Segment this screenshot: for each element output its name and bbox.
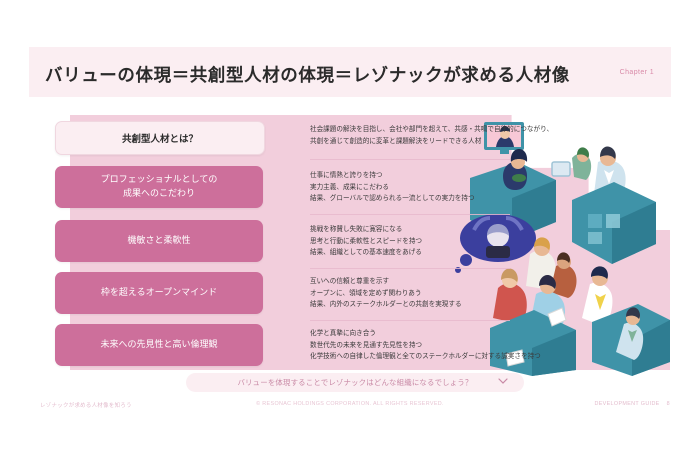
footer-right: DEVELOPMENT GUIDE 8 [594,401,670,407]
desc-line: 社会課題の解決を目指し、会社や部門を超えて、共感・共鳴で自律的につながり、 [310,124,553,136]
row-label-text: プロフェッショナルとしての 成果へのこだわり [101,173,218,201]
row-description-openmind: 互いへの信頼と尊重を示す オープンに、領域を定めず関わりあう 結果、内外のステー… [310,276,462,311]
desc-line: 結果、内外のステークホルダーとの共創を実現する [310,299,462,311]
row-description-definition: 社会課題の解決を目指し、会社や部門を超えて、共感・共鳴で自律的につながり、 共創… [310,124,553,147]
row-description-ethics: 化学と真摯に向き合う 数世代先の未来を見通す先見性を持つ 化学技術への自律した倫… [310,328,541,363]
next-question-pill[interactable]: バリューを体現することでレゾナックはどんな組織になるでしょう？ [186,373,524,392]
desc-line: オープンに、領域を定めず関わりあう [310,288,462,300]
desc-line: 結果、グローバルで認められる一流としての実力を持つ [310,193,475,205]
page-number: 8 [667,401,670,407]
desc-line: 化学と真摯に向き合う [310,328,541,340]
row-label-openmind[interactable]: 枠を超えるオープンマインド [55,272,263,314]
row-label-text: 機敏さと柔軟性 [127,234,190,248]
row-description-agility: 挑戦を称賛し失敗に寛容になる 思考と行動に柔軟性とスピードを持つ 結果、組織とし… [310,224,422,259]
page-title: バリューの体現＝共創型人材の体現＝レゾナックが求める人材像 [45,62,570,87]
desc-line: 仕事に情熱と誇りを持つ [310,170,475,182]
row-label-professional[interactable]: プロフェッショナルとしての 成果へのこだわり [55,166,263,208]
slide: バリューの体現＝共創型人材の体現＝レゾナックが求める人材像 Chapter 1 [0,0,700,467]
desc-line: 思考と行動に柔軟性とスピードを持つ [310,236,422,248]
row-label-definition[interactable]: 共創型人材とは？ [55,121,265,155]
chapter-label: Chapter 1 [620,69,654,76]
next-question-label: バリューを体現することでレゾナックはどんな組織になるでしょう？ [237,377,472,388]
desc-line: 実力主義、成果にこだわる [310,182,475,194]
row-label-text: 未来への先見性と高い倫理観 [100,338,217,352]
row-label-agility[interactable]: 機敏さと柔軟性 [55,220,263,262]
row-description-professional: 仕事に情熱と誇りを持つ 実力主義、成果にこだわる 結果、グローバルで認められる一… [310,170,475,205]
desc-line: 結果、組織としての基本速度をあげる [310,247,422,259]
desc-line: 共創を通じて創造的に変革と課題解決をリードできる人材 [310,136,553,148]
desc-line: 数世代先の未来を見通す先見性を持つ [310,340,541,352]
desc-line: 互いへの信頼と尊重を示す [310,276,462,288]
chevron-down-icon[interactable] [498,378,508,384]
divider [310,268,510,269]
row-label-text: 共創型人材とは？ [122,131,198,145]
row-label-ethics[interactable]: 未来への先見性と高い倫理観 [55,324,263,366]
divider [310,320,510,321]
row-label-line1: プロフェッショナルとしての [101,174,218,184]
divider [310,159,510,160]
desc-line: 挑戦を称賛し失敗に寛容になる [310,224,422,236]
footer-guide-label: DEVELOPMENT GUIDE [594,401,659,407]
desc-line: 化学技術への自律した倫理観と全てのステークホルダーに対する誠実さを持つ [310,351,541,363]
divider [310,214,510,215]
row-label-text: 枠を超えるオープンマインド [101,286,217,300]
row-label-line2: 成果へのこだわり [123,188,195,198]
